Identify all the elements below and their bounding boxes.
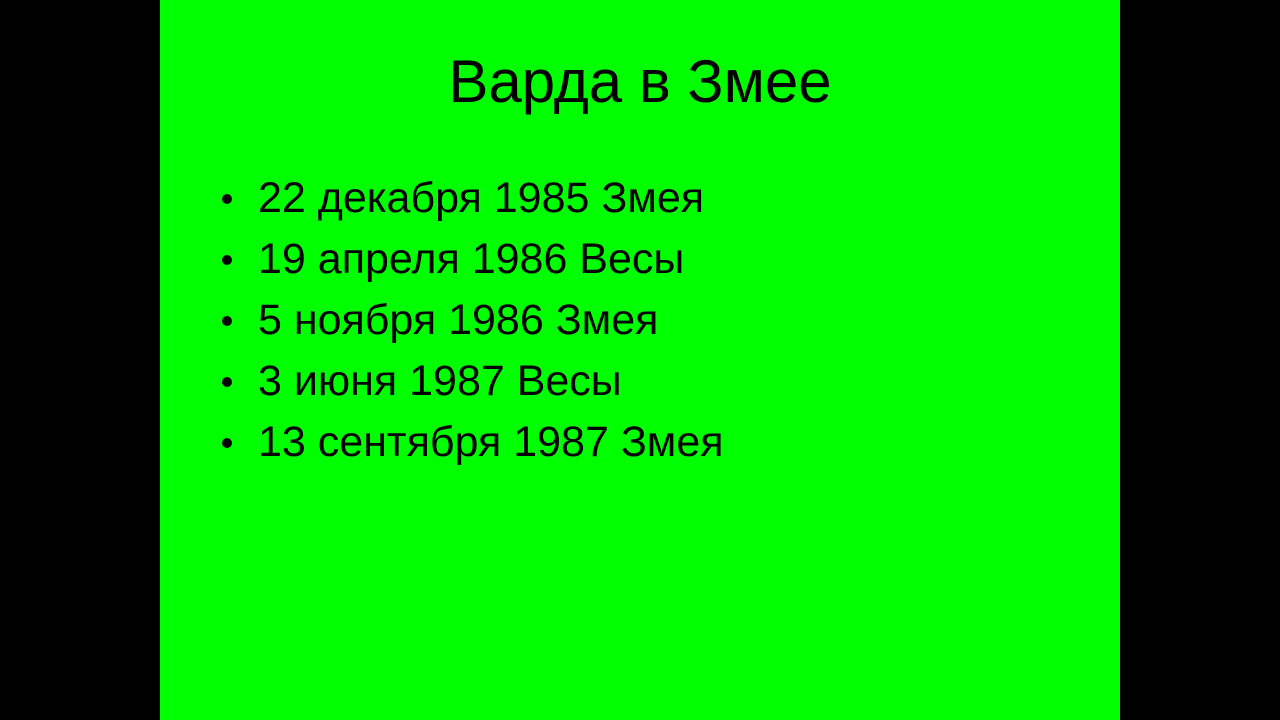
list-item: 22 декабря 1985 Змея	[160, 168, 1120, 229]
list-item: 5 ноября 1986 Змея	[160, 290, 1120, 351]
presentation-slide: Варда в Змее 22 декабря 1985 Змея 19 апр…	[160, 0, 1120, 720]
list-item-label: 19 апреля 1986 Весы	[258, 229, 684, 290]
list-item-label: 22 декабря 1985 Змея	[258, 168, 704, 229]
list-item: 3 июня 1987 Весы	[160, 351, 1120, 412]
bullet-list: 22 декабря 1985 Змея 19 апреля 1986 Весы…	[160, 168, 1120, 473]
bullet-dot-icon	[222, 377, 232, 387]
list-item-label: 13 сентября 1987 Змея	[258, 412, 724, 473]
bullet-dot-icon	[222, 438, 232, 448]
bullet-dot-icon	[222, 316, 232, 326]
list-item-label: 3 июня 1987 Весы	[258, 351, 622, 412]
slide-stage: Варда в Змее 22 декабря 1985 Змея 19 апр…	[0, 0, 1280, 720]
bullet-dot-icon	[222, 194, 232, 204]
list-item: 19 апреля 1986 Весы	[160, 229, 1120, 290]
list-item: 13 сентября 1987 Змея	[160, 412, 1120, 473]
list-item-label: 5 ноября 1986 Змея	[258, 290, 658, 351]
bullet-dot-icon	[222, 255, 232, 265]
page-title: Варда в Змее	[160, 52, 1120, 112]
